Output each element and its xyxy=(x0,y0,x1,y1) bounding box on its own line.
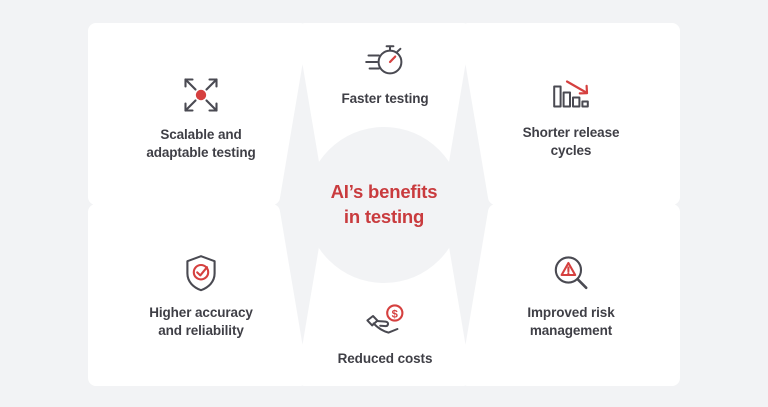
benefit-label-accuracy: Higher accuracy and reliability xyxy=(149,304,253,340)
svg-text:$: $ xyxy=(392,308,399,320)
benefit-accuracy[interactable]: Higher accuracy and reliability xyxy=(108,252,294,340)
page-title: AI’s benefits in testing xyxy=(331,180,438,230)
expand-arrows-icon xyxy=(180,74,222,116)
hand-coin-icon: $ xyxy=(364,300,406,340)
declining-bar-chart-icon xyxy=(550,74,592,114)
benefit-shorter-cycles[interactable]: Shorter release cycles xyxy=(478,74,664,160)
benefit-reduced-costs[interactable]: $ Reduced costs xyxy=(300,300,470,368)
benefit-label-risk-management: Improved risk management xyxy=(527,304,614,340)
stopwatch-icon xyxy=(364,40,406,80)
benefit-scalable[interactable]: Scalable and adaptable testing xyxy=(108,74,294,162)
benefit-label-faster: Faster testing xyxy=(341,90,428,108)
benefit-label-shorter-cycles: Shorter release cycles xyxy=(523,124,620,160)
magnifier-warning-icon xyxy=(550,252,592,294)
center-hub: AI’s benefits in testing xyxy=(307,128,461,282)
shield-check-icon xyxy=(181,252,221,294)
benefit-risk-management[interactable]: Improved risk management xyxy=(478,252,664,340)
benefit-label-reduced-costs: Reduced costs xyxy=(338,350,433,368)
benefit-label-scalable: Scalable and adaptable testing xyxy=(146,126,255,162)
benefit-faster[interactable]: Faster testing xyxy=(300,40,470,108)
ai-benefits-infographic: AI’s benefits in testing Scalable and ad… xyxy=(0,0,768,407)
